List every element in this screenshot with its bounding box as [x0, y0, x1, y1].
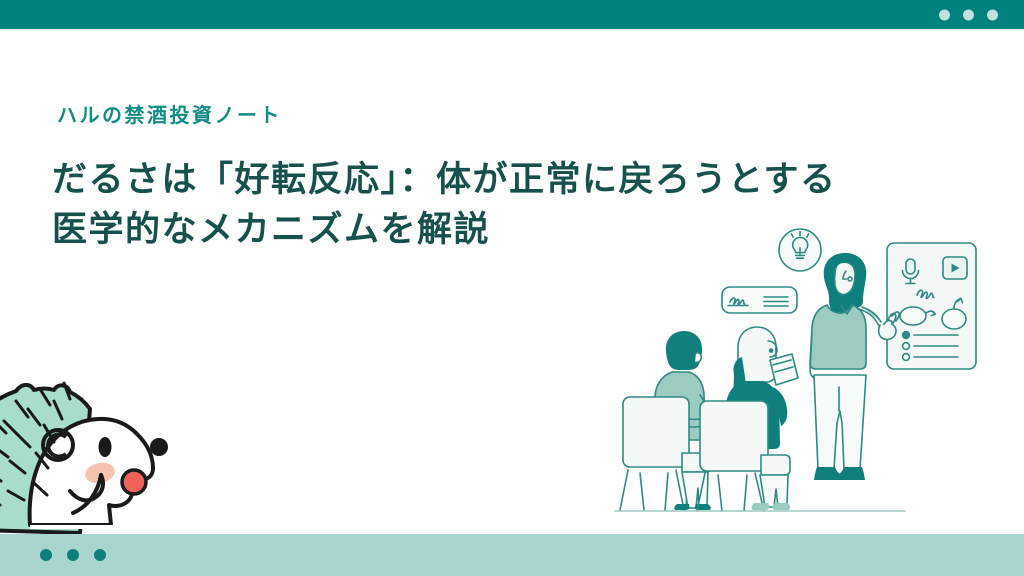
lightbulb-idea-icon: [779, 229, 821, 271]
page-title-line-1: だるさは「好転反応」：体が正常に戻ろうとする: [52, 155, 912, 205]
reading-paper: [770, 354, 798, 385]
top-bar-dots: [939, 9, 998, 20]
presentation-scene-svg: [610, 215, 1010, 535]
mascot-nose: [150, 438, 168, 456]
hedgehog-mascot-svg: [0, 349, 192, 554]
mascot-eye: [99, 437, 112, 457]
slide-canvas: ハルの禁酒投資ノート だるさは「好転反応」：体が正常に戻ろうとする 医学的なメカ…: [0, 0, 1024, 576]
top-dot-1-icon: [939, 9, 950, 20]
mascot-berry: [122, 470, 146, 494]
play-button-icon: [943, 257, 967, 279]
brand-eyebrow: ハルの禁酒投資ノート: [57, 99, 282, 128]
whiteboard: [887, 243, 976, 369]
bottom-dot-3-icon: [94, 549, 106, 561]
text-bubble: [722, 287, 797, 313]
top-bar: [0, 0, 1024, 29]
top-dot-2-icon: [963, 9, 974, 20]
bottom-bar-dots: [40, 549, 106, 561]
bottom-dot-2-icon: [67, 549, 79, 561]
seated-person-left: [620, 331, 711, 510]
hedgehog-mascot: [0, 349, 192, 554]
bottom-bar: [0, 534, 1024, 576]
bottom-dot-1-icon: [40, 549, 52, 561]
seated-person-right: [697, 327, 798, 511]
top-dot-3-icon: [987, 9, 998, 20]
presentation-illustration: [610, 215, 1010, 535]
presenter-figure: [810, 253, 899, 480]
